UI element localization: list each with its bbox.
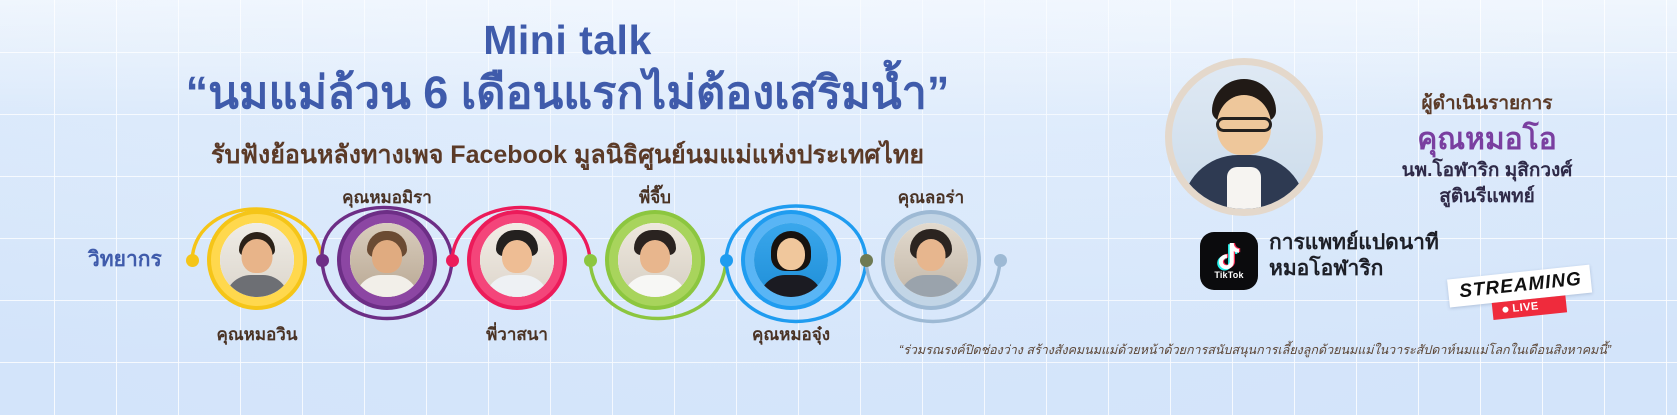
connector-dot <box>316 254 329 267</box>
footnote-text: “ร่วมรณรงค์ปิดช่องว่าง สร้างสังคมนมแม่ด้… <box>840 340 1670 360</box>
speakers-row: คุณหมอวิน คุณหมอมิรา <box>0 178 1080 353</box>
connector-dot <box>446 254 459 267</box>
subtitle: รับฟังย้อนหลังทางเพจ Facebook มูลนิธิศูน… <box>0 135 1135 175</box>
channel-line-2: หมอโอฬาริก <box>1269 256 1439 282</box>
speaker-name: พี่วาสนา <box>486 321 548 348</box>
tiktok-icon[interactable]: TikTok <box>1200 232 1258 290</box>
speaker-avatar <box>211 214 303 306</box>
speaker-card[interactable]: คุณหมอมิรา <box>322 178 452 353</box>
speaker-card[interactable]: พี่จี๊บ <box>590 178 720 353</box>
speaker-card[interactable]: คุณหมอจุ๋ง <box>726 178 856 353</box>
speaker-avatar <box>885 214 977 306</box>
connector-dot <box>994 254 1007 267</box>
main-title: “นมแม่ล้วน 6 เดือนแรกไม่ต้องเสริมน้ำ” <box>0 65 1135 121</box>
connector-dot <box>186 254 199 267</box>
host-fullname-block: นพ.โอฬาริก มุสิกวงศ์ สูตินรีแพทย์ <box>1337 158 1637 209</box>
speaker-card[interactable]: พี่วาสนา <box>452 178 582 353</box>
promo-banner: Mini talk “นมแม่ล้วน 6 เดือนแรกไม่ต้องเส… <box>0 0 1677 415</box>
channel-name: การแพทย์แปดนาที หมอโอฬาริก <box>1269 230 1439 283</box>
tiktok-wordmark: TikTok <box>1214 270 1243 280</box>
speaker-card[interactable]: คุณหมอวิน <box>192 178 322 353</box>
headline-block: Mini talk “นมแม่ล้วน 6 เดือนแรกไม่ต้องเส… <box>0 18 1135 175</box>
speaker-name: คุณหมอมิรา <box>342 184 432 211</box>
speaker-avatar <box>471 214 563 306</box>
speaker-name: คุณหมอวิน <box>217 321 298 348</box>
speaker-avatar <box>745 214 837 306</box>
speaker-avatar <box>341 214 433 306</box>
host-specialty: สูตินรีแพทย์ <box>1337 184 1637 210</box>
speaker-name: คุณลอร่า <box>898 184 964 211</box>
speaker-name: พี่จี๊บ <box>639 184 671 211</box>
host-role-label: ผู้ดำเนินรายการ <box>1337 88 1637 118</box>
host-nickname: คุณหมอโอ <box>1337 116 1637 163</box>
eyebrow-title: Mini talk <box>0 18 1135 63</box>
live-dot-icon <box>1502 306 1509 313</box>
speaker-card[interactable]: คุณลอร่า <box>866 178 996 353</box>
host-avatar <box>1165 58 1323 216</box>
connector-dot <box>584 254 597 267</box>
streaming-badge: STREAMING LIVE <box>1447 265 1594 325</box>
channel-line-1: การแพทย์แปดนาที <box>1269 230 1439 256</box>
live-label: LIVE <box>1512 300 1540 315</box>
speaker-avatar <box>609 214 701 306</box>
speaker-name: คุณหมอจุ๋ง <box>752 321 830 348</box>
host-fullname: นพ.โอฬาริก มุสิกวงศ์ <box>1337 158 1637 184</box>
connector-dot <box>720 254 733 267</box>
connector-dot <box>860 254 873 267</box>
